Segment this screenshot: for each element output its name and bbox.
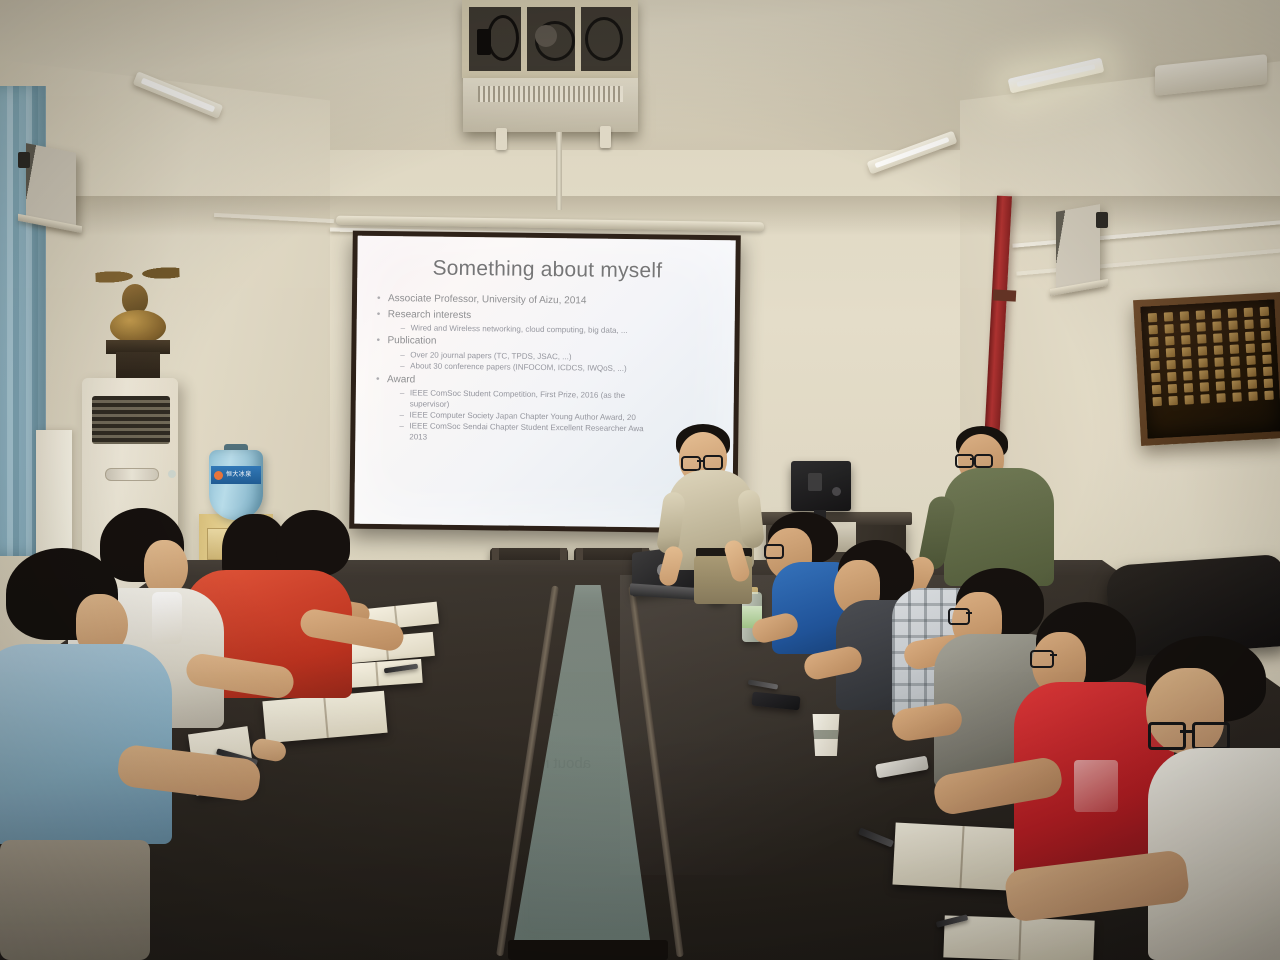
water-bottle-label: 恒大冰泉 [211, 466, 261, 484]
glasses-bridge [966, 612, 972, 614]
plaque-column [1211, 309, 1228, 423]
trophy-globe [110, 310, 166, 344]
observer-glasses [974, 454, 993, 468]
cable-coil [585, 17, 623, 61]
pipe-clamp [993, 289, 1017, 301]
ac-indicator-dot [168, 470, 176, 478]
slide-bullet-1: •Associate Professor, University of Aizu… [377, 292, 723, 310]
dash-icon: – [400, 388, 410, 399]
presenter-glasses [703, 455, 723, 470]
slide-subbullet-text: About 30 conference papers (INFOCOM, ICD… [410, 362, 627, 374]
framed-calligraphy-plaque [1133, 292, 1280, 446]
tshirt-graphic [1074, 760, 1118, 812]
attendee-shorts [0, 840, 150, 960]
attendee-glasses [1192, 722, 1230, 750]
dash-icon: – [400, 410, 410, 421]
glasses-bridge [697, 460, 704, 462]
slide-subbullet-4: –IEEE ComSoc Student Competition, First … [400, 388, 722, 413]
projector-cage [462, 0, 638, 78]
ac-brand-badge [105, 468, 159, 481]
glasses-bridge [970, 458, 976, 460]
notebook-fold [959, 826, 964, 888]
bullet-dot-icon: • [377, 307, 388, 321]
notebook-fold [1018, 918, 1021, 960]
bullet-dot-icon: • [377, 292, 388, 306]
notebook-fold [375, 662, 379, 686]
bullet-dot-icon: • [376, 334, 387, 348]
lens-housing [535, 25, 557, 47]
seminar-room-photo: Something about myself •Associate Profes… [0, 0, 1280, 960]
polo-placket [152, 592, 182, 644]
attendee-hair [276, 510, 350, 576]
water-brand-text: 恒大冰泉 [226, 472, 252, 478]
ac-louvers [92, 396, 170, 444]
plaque-column [1195, 310, 1212, 424]
paper-cup-band [814, 730, 838, 739]
observer-glasses [955, 454, 974, 468]
dash-icon: – [399, 422, 409, 433]
speaker-bracket-right [1096, 212, 1108, 228]
slide-title: Something about myself [371, 256, 723, 284]
plaque-column [1259, 307, 1276, 421]
slide-bullet-4: •Award [376, 373, 722, 391]
slide-subbullet-6: –IEEE ComSoc Sendai Chapter Student Exce… [399, 422, 721, 447]
attendee-glasses [1148, 722, 1186, 750]
monitor-mount-dot [832, 487, 841, 496]
slide-subbullet-text: IEEE ComSoc Student Competition, First P… [410, 389, 625, 401]
wall-speaker-right [1056, 204, 1100, 290]
projector-grille [478, 86, 623, 102]
plaque-column [1243, 308, 1260, 422]
water-bottle [209, 450, 263, 520]
slide-bullet-text: Associate Professor, University of Aizu,… [388, 293, 587, 306]
cage-bar [521, 7, 527, 71]
projector-foot [600, 126, 611, 148]
attendee-glasses [1030, 650, 1054, 668]
dash-icon: – [400, 362, 410, 373]
attendee-torso [0, 644, 172, 844]
speaker-bracket-left [18, 152, 30, 168]
projector-foot [496, 128, 507, 150]
dash-icon: – [400, 350, 410, 361]
slide-subbullet-cont: 2013 [409, 432, 721, 446]
cable-coil [487, 15, 519, 61]
slide-subbullet-text: Wired and Wireless networking, cloud com… [411, 323, 628, 335]
attendee-glasses [948, 608, 970, 625]
slide-bullet-text: Research interests [388, 309, 472, 321]
wall-speaker-left [26, 143, 76, 227]
plaque-column [1163, 312, 1180, 426]
dash-icon: – [401, 323, 411, 334]
slide-subbullet-text: IEEE ComSoc Sendai Chapter Student Excel… [409, 422, 643, 434]
slide-bullet-3: •Publication [376, 334, 722, 352]
slide-bullet-text: Publication [387, 335, 436, 347]
glasses-bridge [1050, 654, 1057, 656]
slide-subbullet-text: Over 20 journal papers (TC, TPDS, JSAC, … [410, 350, 571, 361]
plaque-column [1147, 313, 1164, 427]
brand-mark-icon [214, 471, 223, 480]
slide-bullet-text: Award [387, 374, 415, 385]
projector-mount-stem [556, 132, 562, 210]
plaque-column [1227, 308, 1244, 422]
slide-bullet-2: •Research interests [377, 307, 723, 325]
bullet-dot-icon: • [376, 373, 387, 387]
slide-subbullet-text: IEEE Computer Society Japan Chapter Youn… [410, 410, 636, 422]
attendee-glasses [764, 544, 784, 559]
table-cable-tray [508, 940, 668, 960]
monitor-vent [808, 473, 822, 491]
glasses-bridge [1180, 730, 1192, 733]
power-adapter [477, 29, 491, 55]
cage-bar [575, 7, 581, 71]
notebook-fold [323, 696, 329, 738]
plaque-inner [1140, 299, 1280, 438]
presenter-glasses [681, 456, 701, 471]
plaque-column [1179, 311, 1196, 425]
notebook[interactable] [943, 915, 1094, 960]
